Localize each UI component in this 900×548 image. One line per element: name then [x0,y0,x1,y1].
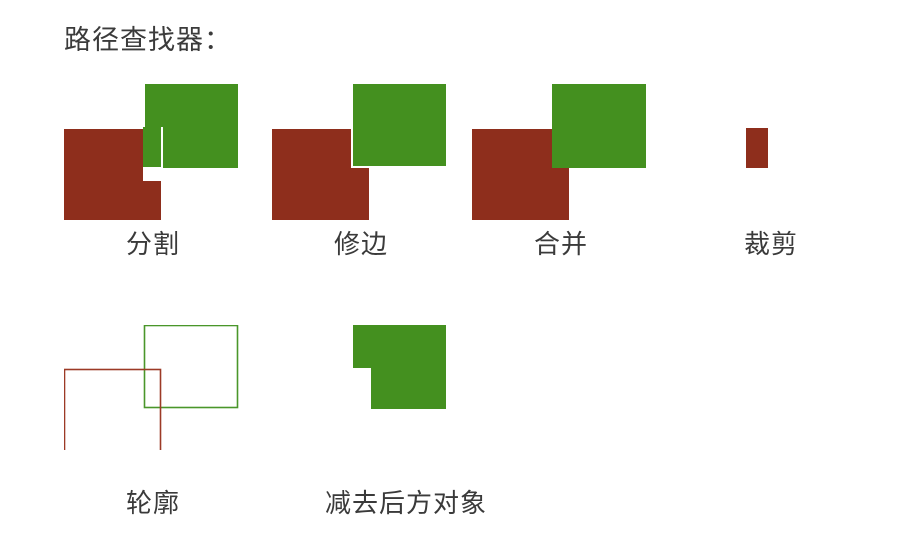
outline-red-stroke [65,370,161,451]
crop-intersection-piece [746,128,768,168]
merge-green-piece [552,84,646,168]
outline-label: 轮廓 [64,483,242,520]
divide-label: 分割 [64,224,242,261]
operation-minus-back: 减去后方对象 [272,325,540,505]
minus-back-art [272,325,540,450]
outline-art [64,325,242,450]
trim-label: 修边 [272,224,450,261]
page-title: 路径查找器： [64,18,232,57]
merge-label: 合并 [472,224,650,261]
divide-art [64,84,242,224]
minus-back-label: 减去后方对象 [272,483,540,520]
operation-crop: 裁剪 [682,84,860,264]
merge-art [472,84,650,224]
trim-art [272,84,450,224]
outline-green-stroke [145,326,238,408]
operation-merge: 合并 [472,84,650,264]
operation-outline: 轮廓 [64,325,242,505]
trim-green-piece [353,84,446,166]
operation-trim: 修边 [272,84,450,264]
minus-back-green-piece [353,325,446,409]
operation-divide: 分割 [64,84,242,264]
pathfinder-illustration: 路径查找器： 分割 修边 合并 [0,0,900,548]
divide-intersection-piece [143,127,161,167]
crop-label: 裁剪 [682,224,860,261]
crop-art [682,84,860,224]
